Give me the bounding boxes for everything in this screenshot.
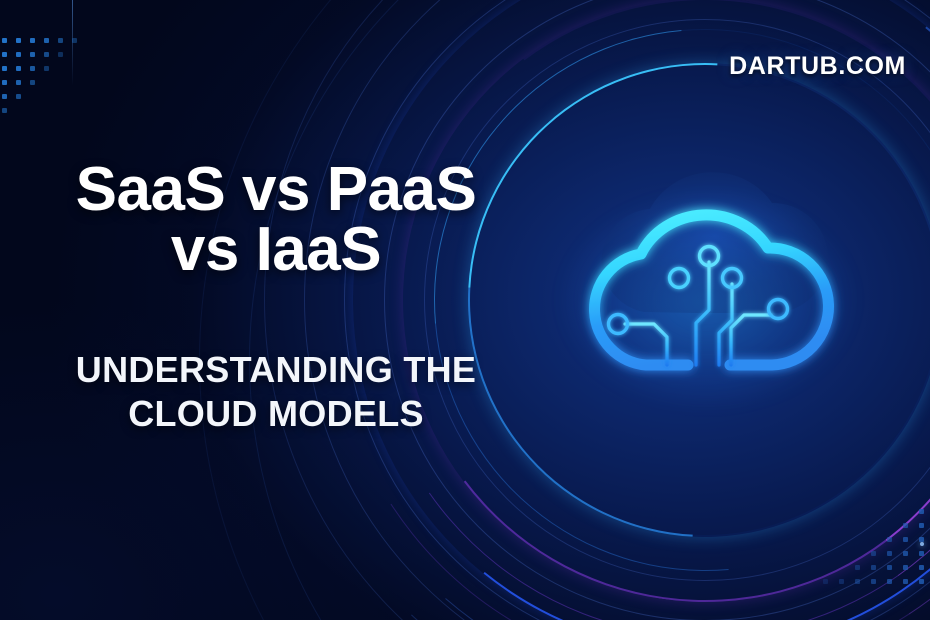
- arc-glow-dot-right: [920, 542, 924, 546]
- cloud-circuit-icon: [548, 160, 868, 420]
- cloud-graphic-container: [548, 160, 868, 420]
- page-title-line-1: SaaS vs PaaS: [26, 160, 526, 220]
- left-hairline-divider: [72, 0, 73, 86]
- page-subtitle: UNDERSTANDING THE CLOUD MODELS: [26, 348, 526, 436]
- brand-watermark: DARTUB.COM: [729, 52, 906, 81]
- cloud-inner-fill: [602, 172, 828, 313]
- poster-canvas: DARTUB.COM SaaS vs PaaS vs IaaS UNDERSTA…: [0, 0, 930, 620]
- dot-grid-bottom-right: [806, 500, 926, 610]
- page-title-line-2: vs IaaS: [26, 220, 526, 280]
- page-subtitle-line-1: UNDERSTANDING THE: [26, 348, 526, 392]
- page-subtitle-line-2: CLOUD MODELS: [26, 392, 526, 436]
- page-title: SaaS vs PaaS vs IaaS: [26, 160, 526, 279]
- circuit-traces-descending: [667, 365, 731, 418]
- dot-grid-top-left: [0, 14, 90, 114]
